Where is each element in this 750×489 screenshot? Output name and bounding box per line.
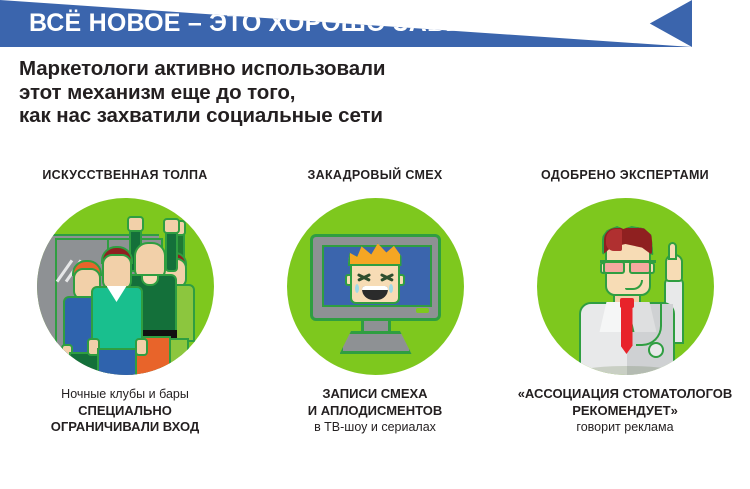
caption-line-2: СПЕЦИАЛЬНО <box>51 403 199 420</box>
caption-line-1: ЗАПИСИ СМЕХА <box>308 386 442 403</box>
glasses-icon <box>603 261 625 274</box>
column-heading: ЗАКАДРОВЫЙ СМЕХ <box>308 168 443 182</box>
raised-arm <box>165 228 178 272</box>
banner-title: ВСЁ НОВОЕ – ЭТО ХОРОШО ЗАБЫТОЕ СТАРОЕ <box>29 9 631 38</box>
hair-highlight <box>606 229 622 251</box>
glasses-icon <box>629 261 651 274</box>
subtitle-line-3: как нас захватили социальные сети <box>19 104 385 128</box>
raised-fist <box>127 216 144 232</box>
head <box>102 254 132 290</box>
column-caption: Ночные клубы и бары СПЕЦИАЛЬНО ОГРАНИЧИВ… <box>51 386 199 436</box>
caption-line-2: РЕКОМЕНДУЕТ» <box>518 403 733 420</box>
column-caption: ЗАПИСИ СМЕХА И АПЛОДИСМЕНТОВ в ТВ-шоу и … <box>308 386 442 436</box>
face-eye-closed <box>357 272 370 283</box>
caption-line-1: «АССОЦИАЦИЯ СТОМАТОЛОГОВ <box>518 386 733 403</box>
caption-line-3: в ТВ-шоу и сериалах <box>308 419 442 436</box>
illustration-tv <box>287 198 464 375</box>
column-artificial-crowd: ИСКУССТВЕННАЯ ТОЛПА <box>0 168 250 436</box>
column-heading: ИСКУССТВЕННАЯ ТОЛПА <box>42 168 207 182</box>
caption-line-2: И АПЛОДИСМЕНТОВ <box>308 403 442 420</box>
subtitle-line-1: Маркетологи активно использовали <box>19 57 385 81</box>
illustration-crowd <box>37 198 214 375</box>
subtitle-line-2: этот механизм еще до того, <box>19 81 385 105</box>
subtitle-block: Маркетологи активно использовали этот ме… <box>19 57 385 128</box>
face-eye-closed <box>380 272 393 283</box>
caption-line-3: ОГРАНИЧИВАЛИ ВХОД <box>51 419 199 436</box>
tear-icon <box>355 284 359 293</box>
column-heading: ОДОБРЕНО ЭКСПЕРТАМИ <box>541 168 709 182</box>
face-teeth <box>362 286 388 290</box>
necktie <box>621 302 633 354</box>
column-caption: «АССОЦИАЦИЯ СТОМАТОЛОГОВ РЕКОМЕНДУЕТ» го… <box>518 386 733 436</box>
stethoscope-icon <box>648 342 664 358</box>
ground-shadow <box>577 366 677 375</box>
caption-line-1: Ночные клубы и бары <box>51 386 199 403</box>
illustration-doctor <box>537 198 714 375</box>
legs <box>97 348 137 375</box>
pointing-finger-icon <box>668 242 677 260</box>
raised-fist <box>163 218 180 234</box>
header-banner: ВСЁ НОВОЕ – ЭТО ХОРОШО ЗАБЫТОЕ СТАРОЕ <box>0 0 692 47</box>
monitor-base <box>340 331 412 354</box>
columns-row: ИСКУССТВЕННАЯ ТОЛПА <box>0 168 750 436</box>
column-expert-approved: ОДОБРЕНО ЭКСПЕРТАМИ « <box>500 168 750 436</box>
collar <box>141 274 159 286</box>
tear-icon <box>389 284 393 293</box>
caption-line-3: говорит реклама <box>518 419 733 436</box>
column-canned-laughter: ЗАКАДРОВЫЙ СМЕХ ЗАПИСИ СМЕХА И АПЛОДИСМЕ… <box>250 168 500 436</box>
power-led-icon <box>416 308 429 313</box>
